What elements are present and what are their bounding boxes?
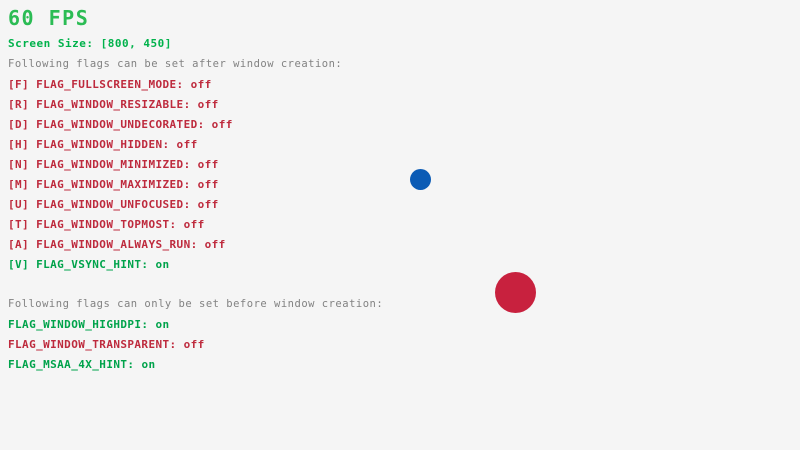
- flag-value: off: [198, 158, 219, 171]
- screen-size-label: Screen Size: [800, 450]: [8, 38, 172, 49]
- flag-name: FLAG_WINDOW_TRANSPARENT:: [8, 338, 184, 351]
- flag-value: off: [198, 98, 219, 111]
- flag-name: FLAG_WINDOW_HIDDEN:: [36, 138, 176, 151]
- flag-name: FLAG_WINDOW_RESIZABLE:: [36, 98, 198, 111]
- flag-name: FLAG_VSYNC_HINT:: [36, 258, 155, 271]
- fps-counter: 60 FPS: [8, 8, 89, 28]
- flag-row[interactable]: [R] FLAG_WINDOW_RESIZABLE: off: [8, 99, 219, 110]
- note-after-creation: Following flags can be set after window …: [8, 59, 342, 70]
- flag-row[interactable]: [F] FLAG_FULLSCREEN_MODE: off: [8, 79, 212, 90]
- flag-value: off: [184, 338, 205, 351]
- flag-value: off: [177, 138, 198, 151]
- flag-row[interactable]: [D] FLAG_WINDOW_UNDECORATED: off: [8, 119, 233, 130]
- flag-row[interactable]: [T] FLAG_WINDOW_TOPMOST: off: [8, 219, 205, 230]
- flag-key: [M]: [8, 178, 36, 191]
- flag-value: off: [198, 198, 219, 211]
- flag-name: FLAG_WINDOW_ALWAYS_RUN:: [36, 238, 205, 251]
- flag-value: off: [198, 178, 219, 191]
- flag-key: [H]: [8, 138, 36, 151]
- flag-row[interactable]: [A] FLAG_WINDOW_ALWAYS_RUN: off: [8, 239, 226, 250]
- flag-key: [V]: [8, 258, 36, 271]
- flag-name: FLAG_WINDOW_MINIMIZED:: [36, 158, 198, 171]
- flag-key: [T]: [8, 218, 36, 231]
- flag-key: [R]: [8, 98, 36, 111]
- flag-value: off: [212, 118, 233, 131]
- flag-name: FLAG_WINDOW_UNDECORATED:: [36, 118, 212, 131]
- flag-value: on: [141, 358, 155, 371]
- flag-value: on: [155, 258, 169, 271]
- flag-row[interactable]: [V] FLAG_VSYNC_HINT: on: [8, 259, 170, 270]
- flag-key: [D]: [8, 118, 36, 131]
- flag-row[interactable]: FLAG_MSAA_4X_HINT: on: [8, 359, 155, 370]
- flag-row[interactable]: FLAG_WINDOW_HIGHDPI: on: [8, 319, 170, 330]
- flag-key: [F]: [8, 78, 36, 91]
- note-before-creation: Following flags can only be set before w…: [8, 299, 383, 310]
- ball-large-circle: [495, 272, 536, 313]
- flag-row[interactable]: [U] FLAG_WINDOW_UNFOCUSED: off: [8, 199, 219, 210]
- flag-key: [U]: [8, 198, 36, 211]
- flag-key: [A]: [8, 238, 36, 251]
- flag-row[interactable]: [N] FLAG_WINDOW_MINIMIZED: off: [8, 159, 219, 170]
- flag-name: FLAG_WINDOW_MAXIMIZED:: [36, 178, 198, 191]
- flag-name: FLAG_MSAA_4X_HINT:: [8, 358, 141, 371]
- flag-name: FLAG_FULLSCREEN_MODE:: [36, 78, 191, 91]
- flag-row[interactable]: FLAG_WINDOW_TRANSPARENT: off: [8, 339, 205, 350]
- flag-value: off: [184, 218, 205, 231]
- flag-name: FLAG_WINDOW_UNFOCUSED:: [36, 198, 198, 211]
- flag-value: off: [191, 78, 212, 91]
- ball-small-circle: [410, 169, 431, 190]
- flag-value: on: [155, 318, 169, 331]
- raylib-window: 60 FPS Screen Size: [800, 450] Following…: [0, 0, 800, 450]
- flag-key: [N]: [8, 158, 36, 171]
- flag-name: FLAG_WINDOW_HIGHDPI:: [8, 318, 155, 331]
- flag-row[interactable]: [H] FLAG_WINDOW_HIDDEN: off: [8, 139, 198, 150]
- flag-value: off: [205, 238, 226, 251]
- flag-name: FLAG_WINDOW_TOPMOST:: [36, 218, 183, 231]
- flag-row[interactable]: [M] FLAG_WINDOW_MAXIMIZED: off: [8, 179, 219, 190]
